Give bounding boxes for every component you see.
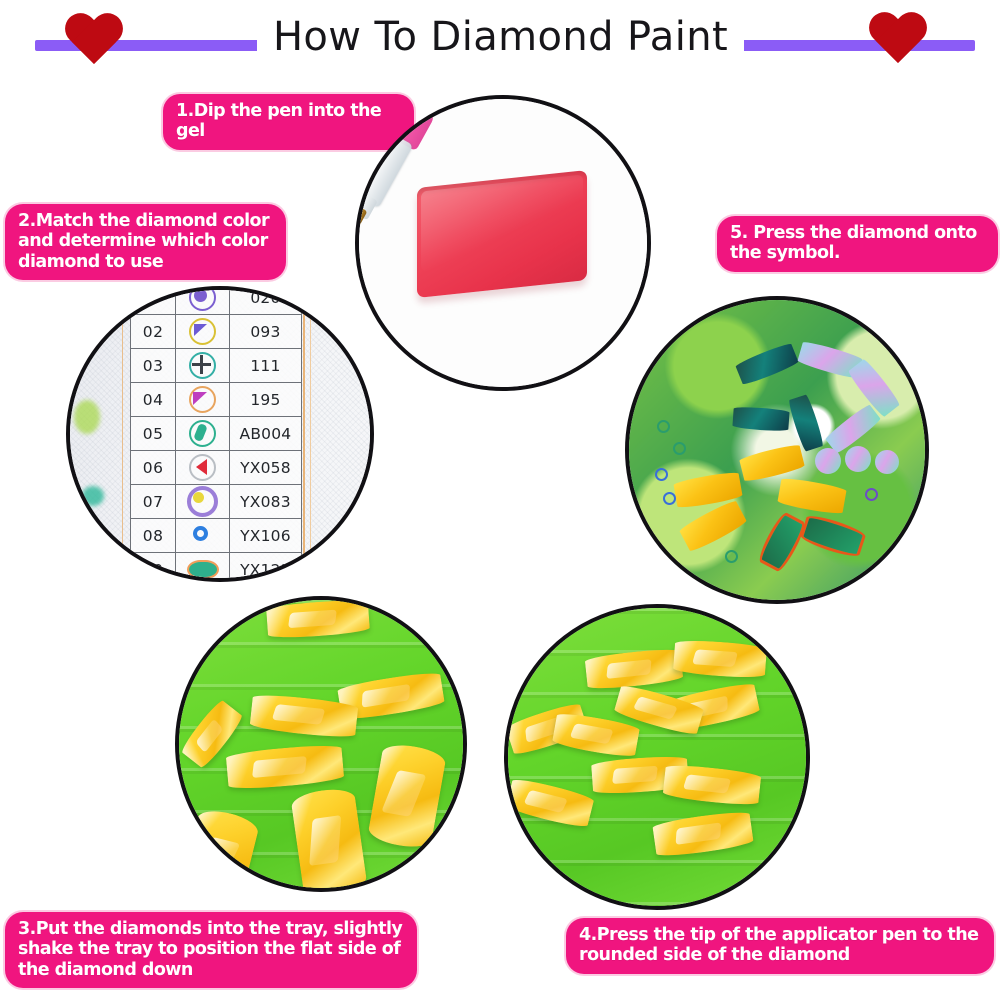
page-title-text: How To Diamond Paint xyxy=(257,14,744,60)
gem-round xyxy=(815,448,841,474)
symbol-slash-icon xyxy=(189,420,216,447)
chart-symbol xyxy=(176,315,230,349)
photo-5-scene xyxy=(629,300,925,600)
photo-diamonds-in-tray xyxy=(175,596,467,892)
symbol-double-dot-icon xyxy=(189,286,216,311)
symbol-dot-icon xyxy=(187,486,218,517)
photo-color-chart: 020 02 093 03 111 04 xyxy=(66,286,374,582)
symbol-triangle-icon xyxy=(189,386,216,413)
step-label-5: 5. Press the diamond onto the symbol. xyxy=(717,216,998,272)
chart-code: 020 xyxy=(229,286,301,315)
gem-round xyxy=(845,446,871,472)
chart-number: 06 xyxy=(131,451,176,485)
photo-pen-in-gel xyxy=(355,95,651,391)
gem-yellow xyxy=(777,476,847,515)
printed-leaf-symbol xyxy=(803,516,864,556)
printed-dot-symbol xyxy=(673,442,686,455)
infographic-canvas: How To Diamond Paint 1.Dip the pen into … xyxy=(0,0,1001,1001)
photo-diamond-onto-symbol xyxy=(625,296,929,604)
chart-number: 04 xyxy=(131,383,176,417)
table-row: 08 YX106 xyxy=(131,519,302,553)
chart-symbol xyxy=(176,286,230,315)
table-row: 02 093 xyxy=(131,315,302,349)
printed-dot-symbol xyxy=(725,550,738,563)
diamond-color-chart-table: 020 02 093 03 111 04 xyxy=(130,286,302,582)
chart-symbol xyxy=(176,417,230,451)
chart-number: 09 xyxy=(131,553,176,583)
chart-symbol xyxy=(176,519,230,553)
table-row: 03 111 xyxy=(131,349,302,383)
gem-teal xyxy=(732,406,789,432)
photo-3-scene xyxy=(179,600,463,888)
chart-number: 03 xyxy=(131,349,176,383)
symbol-arrow-icon xyxy=(189,454,216,481)
photo-2-scene: 020 02 093 03 111 04 xyxy=(70,290,370,578)
canvas-guide-line xyxy=(310,290,311,578)
printed-green-symbol xyxy=(74,400,100,434)
pen-body xyxy=(625,296,678,398)
table-row: 09 YX125 xyxy=(131,553,302,583)
gem-teal xyxy=(735,342,800,387)
printed-leaf-symbol xyxy=(760,514,805,569)
gem-round xyxy=(875,450,899,474)
chart-number: 07 xyxy=(131,485,176,519)
chart-symbol xyxy=(176,349,230,383)
chart-code: 093 xyxy=(229,315,301,349)
printed-teal-symbol xyxy=(82,486,104,506)
printed-dot-symbol xyxy=(655,468,668,481)
canvas-guide-line xyxy=(303,290,305,578)
applicator-pen xyxy=(625,296,691,460)
table-row: 04 195 xyxy=(131,383,302,417)
chart-symbol xyxy=(176,553,230,583)
table-row: 07 YX083 xyxy=(131,485,302,519)
table-row: 06 YX058 xyxy=(131,451,302,485)
canvas-guide-line xyxy=(122,290,123,578)
chart-code: YX083 xyxy=(229,485,301,519)
symbol-plus-icon xyxy=(189,352,216,379)
chart-code: 111 xyxy=(229,349,301,383)
step-label-3: 3.Put the diamonds into the tray, slight… xyxy=(5,912,417,988)
gem-iridescent xyxy=(847,358,902,418)
symbol-ring-icon xyxy=(189,522,216,549)
chart-code: YX058 xyxy=(229,451,301,485)
printed-dot-symbol xyxy=(865,488,878,501)
chart-symbol xyxy=(176,485,230,519)
chart-number: 02 xyxy=(131,315,176,349)
table-row: 05 AB004 xyxy=(131,417,302,451)
chart-number: 05 xyxy=(131,417,176,451)
gem-yellow-placed xyxy=(739,443,805,483)
chart-symbol xyxy=(176,451,230,485)
chart-number: 08 xyxy=(131,519,176,553)
step-label-4: 4.Press the tip of the applicator pen to… xyxy=(566,918,994,974)
photo-pen-picking-diamond xyxy=(504,604,810,910)
symbol-triangle-icon xyxy=(189,318,216,345)
page-title: How To Diamond Paint xyxy=(0,14,1001,60)
chart-code: 195 xyxy=(229,383,301,417)
chart-code: YX125 xyxy=(229,553,301,583)
photo-4-scene xyxy=(508,608,806,906)
symbol-leaf-icon xyxy=(191,558,214,581)
gel-pad xyxy=(417,170,587,298)
table-row-partial: 020 xyxy=(131,286,302,315)
photo-1-scene xyxy=(359,99,647,387)
chart-symbol xyxy=(176,383,230,417)
chart-code: AB004 xyxy=(229,417,301,451)
chart-code: YX106 xyxy=(229,519,301,553)
gem-teal xyxy=(787,394,825,452)
chart-number xyxy=(131,286,176,315)
printed-dot-symbol xyxy=(663,492,676,505)
step-label-2: 2.Match the diamond color and determine … xyxy=(5,204,286,280)
printed-dot-symbol xyxy=(657,420,670,433)
